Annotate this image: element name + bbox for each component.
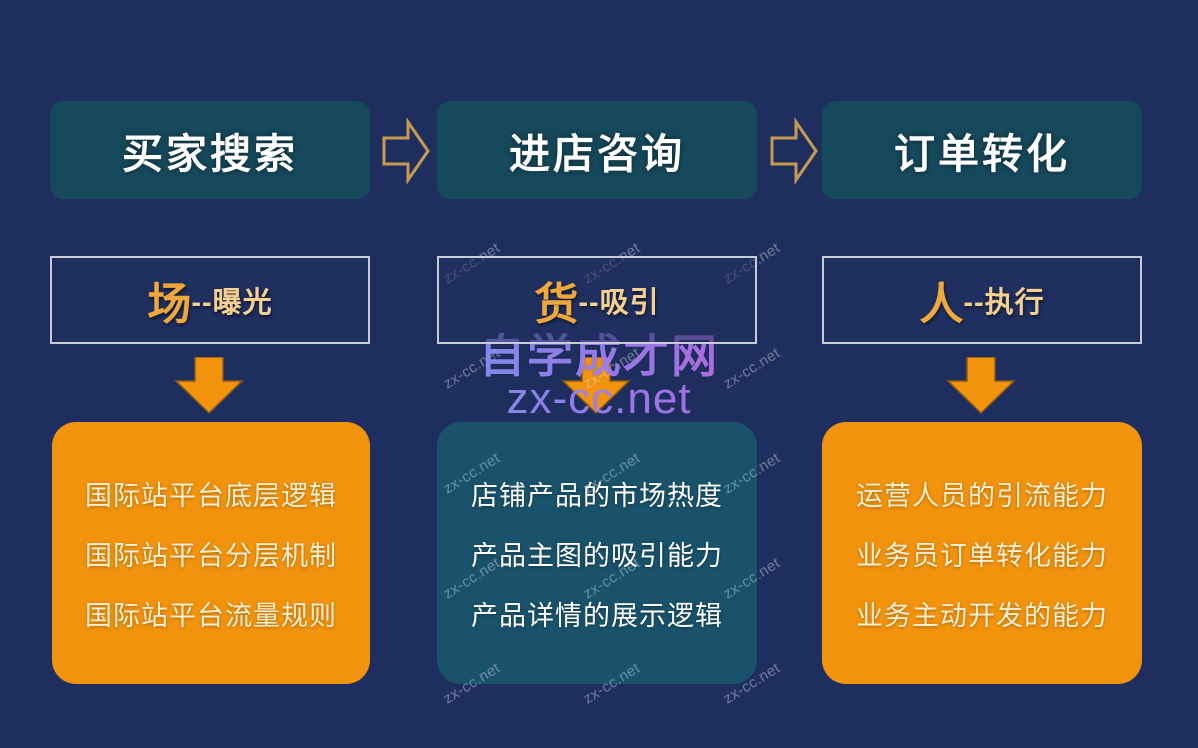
detail-card-1-line-3: 国际站平台流量规则 xyxy=(85,594,337,633)
detail-card-row: 国际站平台底层逻辑 国际站平台分层机制 国际站平台流量规则 店铺产品的市场热度 … xyxy=(0,422,1198,684)
detail-card-2-line-2: 产品主图的吸引能力 xyxy=(471,534,723,573)
factor-box-2-glyph: 货 xyxy=(534,268,578,332)
flow-step-1[interactable]: 买家搜索 xyxy=(50,101,370,199)
flow-step-3-label: 订单转化 xyxy=(894,120,1070,180)
detail-card-1-line-2: 国际站平台分层机制 xyxy=(85,534,337,573)
flow-step-3[interactable]: 订单转化 xyxy=(822,101,1142,199)
down-arrow-solid-icon xyxy=(559,357,633,415)
factor-box-1-glyph: 场 xyxy=(147,268,191,332)
factor-box-3-suffix: --执行 xyxy=(963,279,1044,321)
detail-card-1[interactable]: 国际站平台底层逻辑 国际站平台分层机制 国际站平台流量规则 xyxy=(52,422,370,684)
down-arrow-solid-icon xyxy=(172,357,246,415)
factor-box-3-glyph: 人 xyxy=(919,268,963,332)
right-arrow-outline-icon xyxy=(382,116,430,186)
right-arrow-outline-icon xyxy=(770,116,818,186)
factor-box-3[interactable]: 人 --执行 xyxy=(822,256,1142,344)
factor-box-2[interactable]: 货 --吸引 xyxy=(437,256,757,344)
detail-card-3-line-2: 业务员订单转化能力 xyxy=(856,534,1108,573)
factor-box-1-suffix: --曝光 xyxy=(191,279,272,321)
down-arrow-solid-icon xyxy=(944,357,1018,415)
detail-card-2-line-3: 产品详情的展示逻辑 xyxy=(471,594,723,633)
watermark-tile: zx-cc.net xyxy=(720,344,783,392)
detail-card-2-line-1: 店铺产品的市场热度 xyxy=(471,474,723,513)
detail-card-3[interactable]: 运营人员的引流能力 业务员订单转化能力 业务主动开发的能力 xyxy=(822,422,1142,684)
detail-card-1-line-1: 国际站平台底层逻辑 xyxy=(85,474,337,513)
detail-card-2[interactable]: 店铺产品的市场热度 产品主图的吸引能力 产品详情的展示逻辑 xyxy=(437,422,757,684)
watermark-tile: zx-cc.net xyxy=(440,344,503,392)
flow-step-2-label: 进店咨询 xyxy=(509,120,685,180)
flow-step-1-label: 买家搜索 xyxy=(122,120,298,180)
detail-card-3-line-1: 运营人员的引流能力 xyxy=(856,474,1108,513)
factor-box-2-suffix: --吸引 xyxy=(578,279,659,321)
detail-card-3-line-3: 业务主动开发的能力 xyxy=(856,594,1108,633)
flow-step-2[interactable]: 进店咨询 xyxy=(437,101,757,199)
slide-canvas: 买家搜索 进店咨询 订单转化 场 --曝光 货 --吸引 xyxy=(0,0,1198,748)
factor-box-1[interactable]: 场 --曝光 xyxy=(50,256,370,344)
factor-box-row: 场 --曝光 货 --吸引 人 --执行 xyxy=(0,256,1198,344)
flow-header-row: 买家搜索 进店咨询 订单转化 xyxy=(0,101,1198,199)
